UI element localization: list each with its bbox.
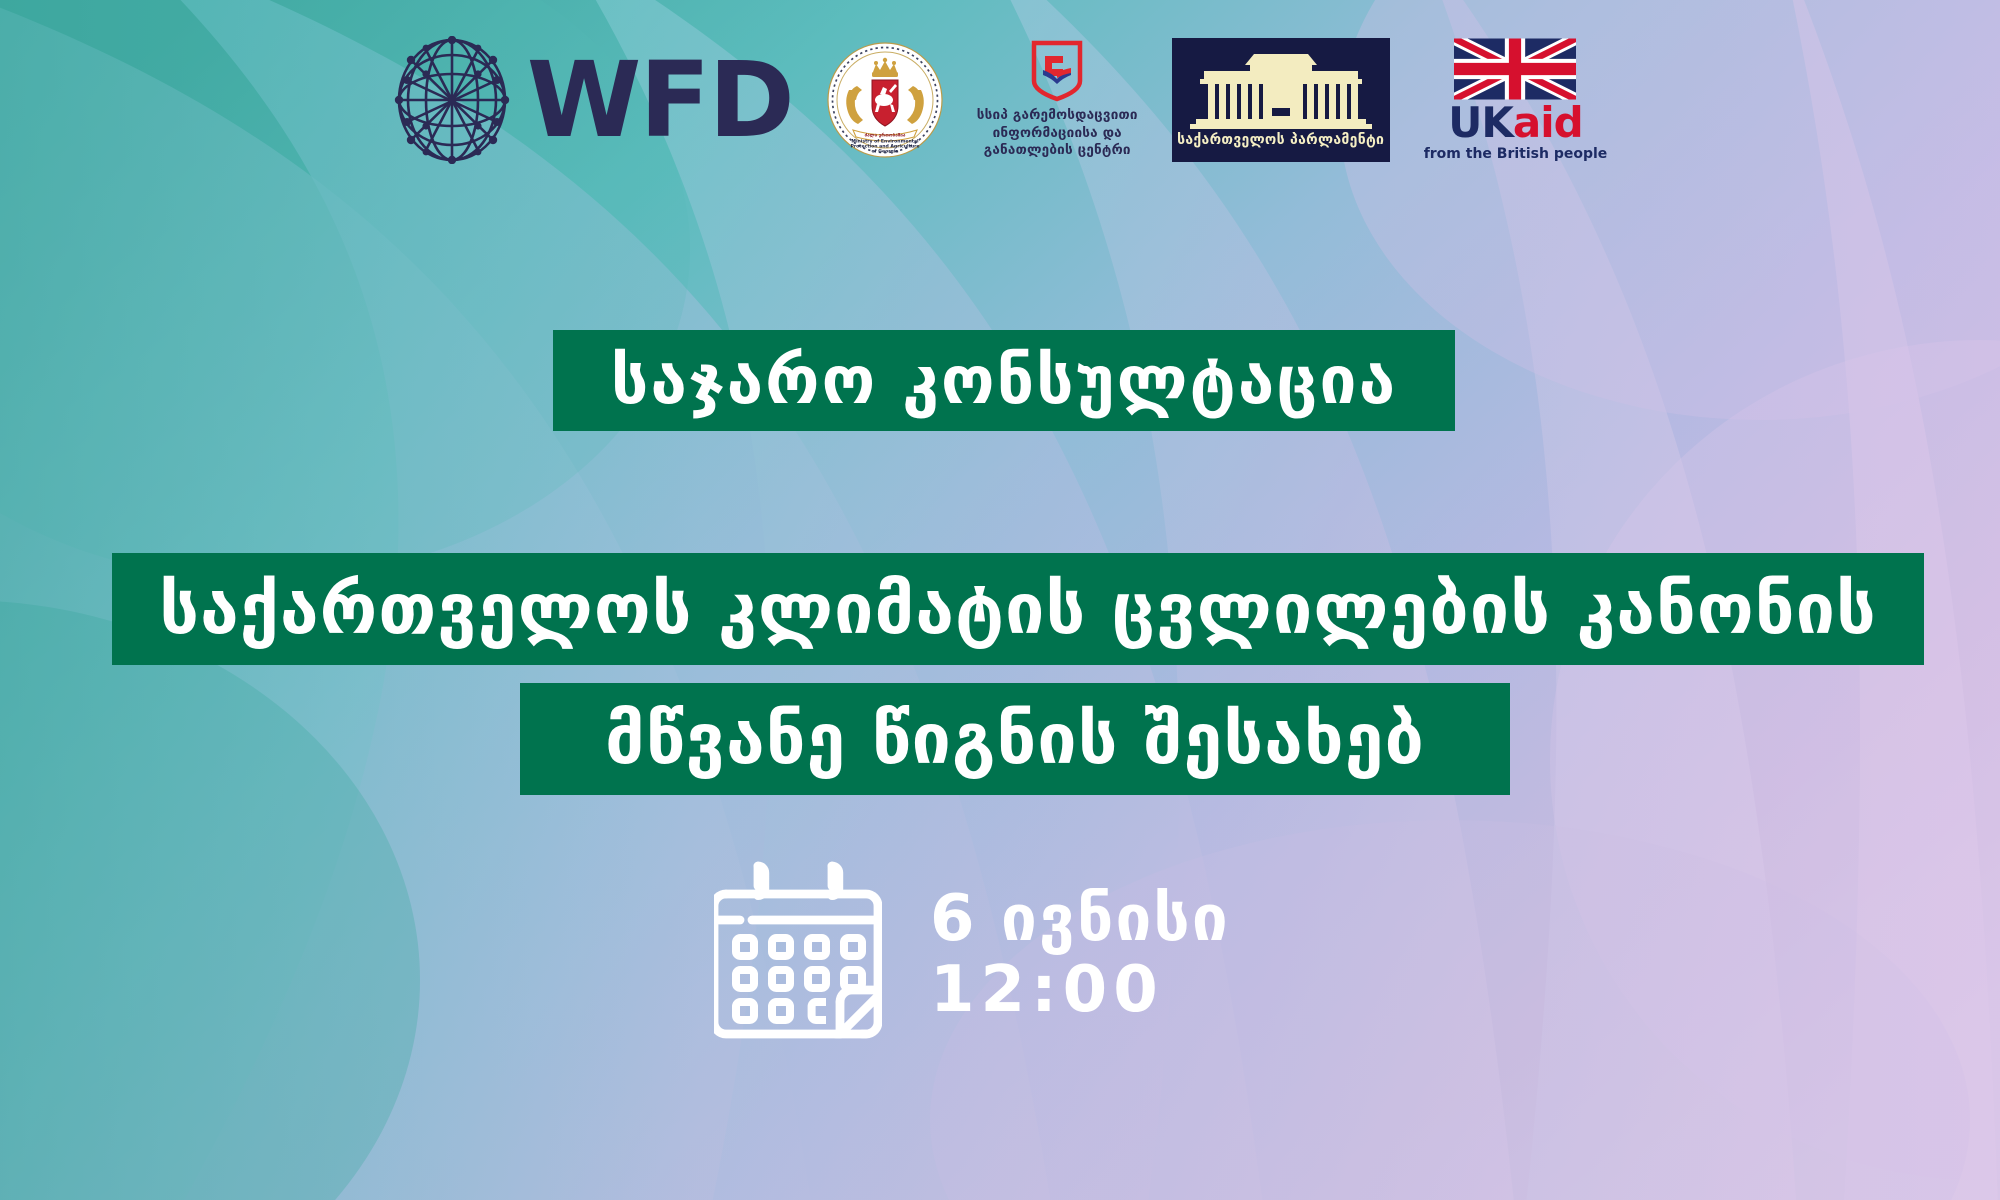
ministry-caption-en-1: Ministry of Environmental <box>851 139 919 145</box>
eic-caption: სსიპ გარემოსდაცვითი ინფორმაციისა და განა… <box>977 107 1138 160</box>
banner-public-consultation: საჯარო კონსულტაცია <box>553 330 1455 431</box>
logo-environmental-information-center: სსიპ გარემოსდაცვითი ინფორმაციისა და განა… <box>977 40 1138 160</box>
eic-line-1: სსიპ გარემოსდაცვითი <box>977 107 1138 125</box>
partner-logo-strip: WFD <box>0 0 2000 200</box>
banner-title-line-2: საქართველოს კლიმატის ცვლილების კანონის <box>112 553 1924 665</box>
logo-ministry-of-environment: ძალა ერთობაშია Ministry of Environmental… <box>827 42 943 158</box>
parliament-building-icon <box>1188 52 1374 130</box>
ukaid-word-aid: aid <box>1513 98 1583 147</box>
event-datetime-block: 6 ივნისი 12:00 <box>714 860 1230 1050</box>
georgia-coat-of-arms-seal: ძალა ერთობაშია Ministry of Environmental… <box>827 42 943 158</box>
parliament-caption: საქართველოს პარლამენტი <box>1177 132 1384 148</box>
svg-text:ძალა ერთობაშია: ძალა ერთობაშია <box>864 132 905 139</box>
ministry-caption-en-3: of Georgia <box>871 149 898 155</box>
ukaid-word-uk: UK <box>1448 98 1513 147</box>
logo-ukaid: UKaid from the British people <box>1424 38 1608 162</box>
ukaid-wordmark: UKaid <box>1448 103 1582 143</box>
calendar-icon <box>714 860 882 1050</box>
book-shield-icon <box>1031 40 1083 102</box>
event-datetime-text: 6 ივნისი 12:00 <box>930 885 1230 1025</box>
logo-wfd: WFD <box>393 36 793 164</box>
wfd-wordmark: WFD <box>527 48 793 152</box>
eic-line-3: განათლების ცენტრი <box>977 142 1138 160</box>
logo-parliament-of-georgia: საქართველოს პარლამენტი <box>1172 38 1390 162</box>
event-date: 6 ივნისი <box>930 885 1230 954</box>
eic-line-2: ინფორმაციისა და <box>977 125 1138 143</box>
union-jack-flag-icon <box>1454 38 1576 100</box>
ukaid-subtitle: from the British people <box>1424 146 1608 162</box>
globe-network-icon <box>393 36 511 164</box>
event-time: 12:00 <box>930 956 1230 1025</box>
banner-title-line-3: მწვანე წიგნის შესახებ <box>520 683 1510 795</box>
